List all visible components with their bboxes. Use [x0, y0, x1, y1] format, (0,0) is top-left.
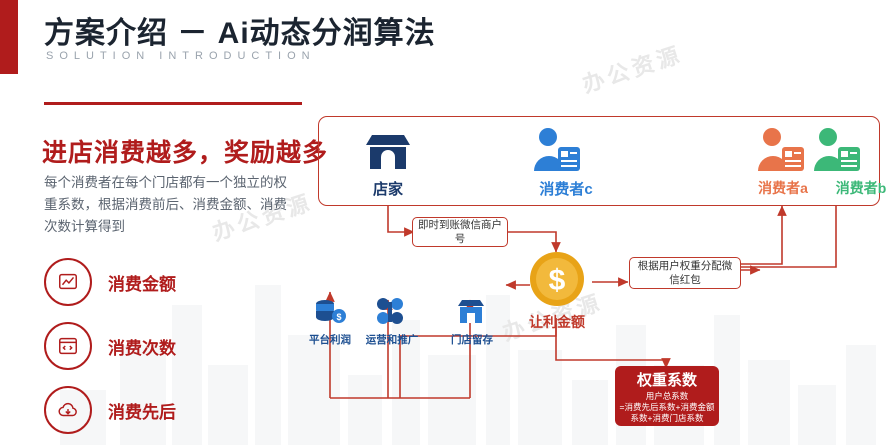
weight-box-title: 权重系数 — [619, 371, 715, 391]
slide-canvas: 办公资源 办公资源 办公资源 方案介绍 － Ai动态分润算法 SOLUTION … — [0, 0, 892, 445]
weight-coefficient-box: 权重系数 用户总系数 =消费先后系数+消费金额 系数+消费门店系数 — [615, 366, 719, 426]
actor-label-consumer-a: 消费者a — [738, 178, 828, 198]
coin-label: 让利金额 — [508, 312, 606, 332]
store-icon — [362, 131, 414, 180]
actor-label-store: 店家 — [348, 178, 428, 199]
consumer-icon — [532, 127, 584, 180]
svg-text:$: $ — [549, 264, 566, 297]
note-merchant-account: 即时到账微信商户号 — [412, 217, 508, 247]
coins-icon: $ — [313, 298, 347, 333]
svg-text:$: $ — [336, 312, 341, 322]
megaphone-icon — [374, 296, 406, 333]
actor-label-consumer-c: 消费者c — [518, 178, 614, 199]
split-label-store-retain: 门店留存 — [442, 332, 502, 347]
shop-icon — [456, 297, 486, 332]
weight-box-line3: 系数+消费门店系数 — [619, 413, 715, 424]
note-weight-redpacket: 根据用户权重分配微信红包 — [629, 257, 741, 289]
consumer-icon — [756, 127, 808, 180]
weight-box-line1: 用户总系数 — [619, 391, 715, 402]
consumer-icon — [812, 127, 864, 180]
split-label-operations: 运营和推广 — [356, 332, 428, 347]
actor-label-consumer-b: 消费者b — [816, 178, 892, 198]
weight-box-line2: =消费先后系数+消费金额 — [619, 402, 715, 413]
split-label-platform: 平台利润 — [298, 332, 362, 347]
dollar-coin-icon: $ — [528, 250, 586, 313]
